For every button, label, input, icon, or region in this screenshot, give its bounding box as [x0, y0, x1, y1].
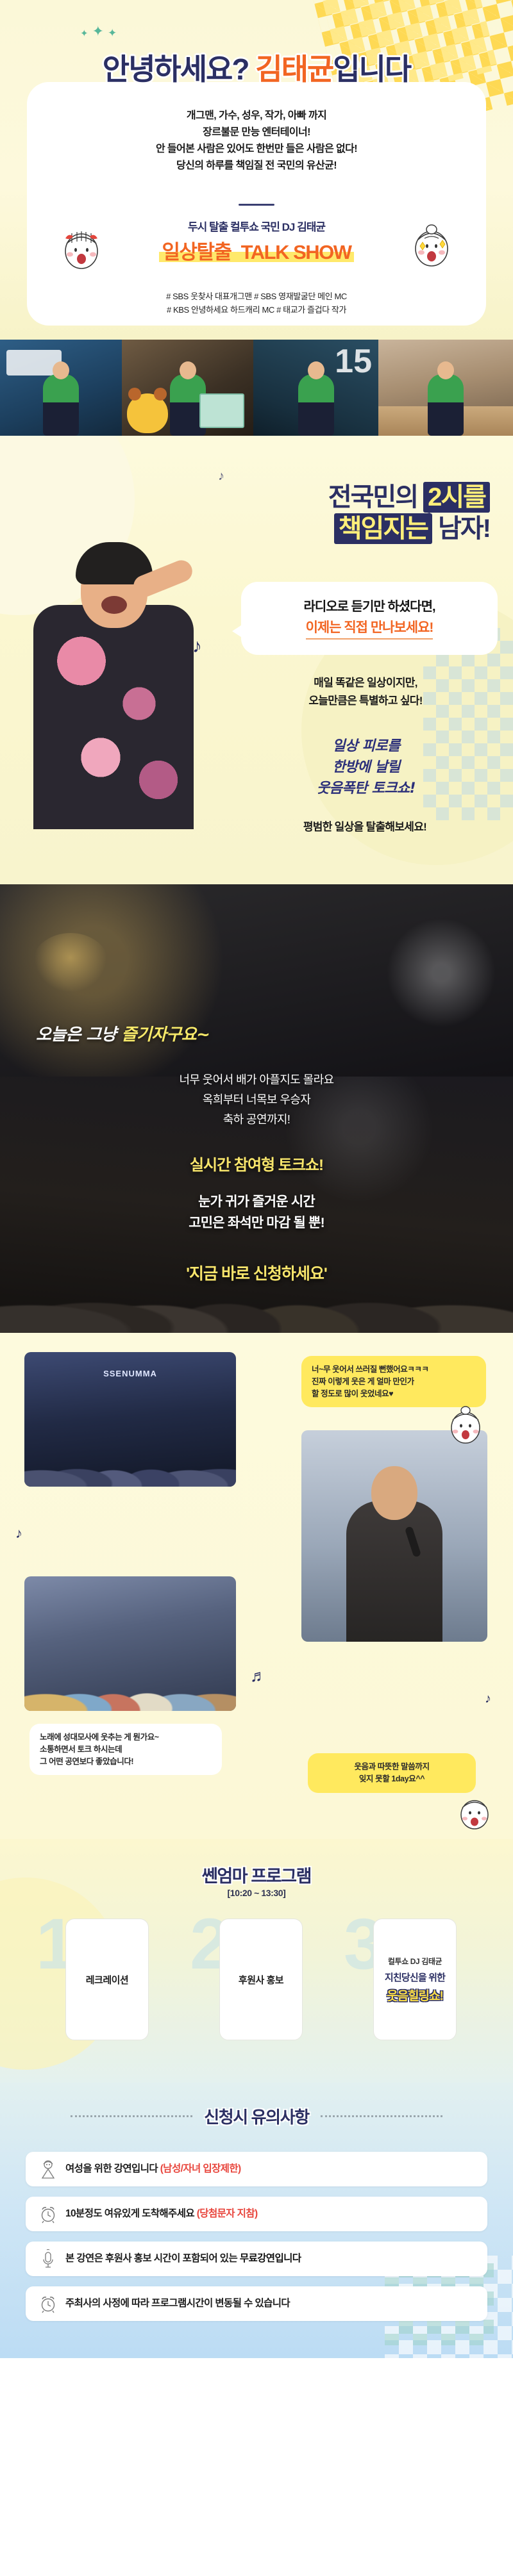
- yellow-section-title: 전국민의 2시를 책임지는 남자!: [328, 482, 490, 545]
- cartoon-face-icon: [62, 226, 101, 270]
- microphone-icon: [40, 2249, 56, 2268]
- music-note-icon: ♪: [485, 1692, 491, 1706]
- review-bubble-line: 할 정도로 많이 웃었네요♥: [312, 1388, 476, 1400]
- notice-text-highlight: 무료강연입니다: [240, 2253, 301, 2264]
- review-bubble-line: 그 어떤 공연보다 좋았습니다!: [40, 1756, 212, 1768]
- reviews-section: SSENUMMA 너~무 웃어서 쓰러질 뻔했어요ㅋㅋㅋ 진짜 이렇게 웃은 게…: [0, 1333, 513, 1839]
- dark-handwriting-yellow: 즐기자구요~: [122, 1025, 210, 1044]
- hero-body-text: 개그맨, 가수, 성우, 작가, 아빠 까지 장르불문 만능 엔터테이너! 안 …: [0, 108, 513, 174]
- program-item-1: 1 레크레이션: [38, 1919, 167, 2047]
- dark-paragraph-line: 너무 웃어서 배가 아플지도 몰라요: [0, 1070, 513, 1090]
- speaker-head: [371, 1466, 417, 1520]
- page-title-suffix: 입니다: [333, 53, 410, 86]
- dark-white-text: 눈가 귀가 즐거운 시간 고민은 좌석만 마감 될 뿐!: [0, 1192, 513, 1234]
- notice-item: 여성을 위한 강연입니다 (남성/자녀 입장제한): [26, 2152, 487, 2186]
- yellow-paragraph: 매일 똑같은 일상이지만, 오늘만큼은 특별하고 싶다!: [244, 674, 487, 709]
- review-bubble-3: 웃음과 따뜻한 말씀까지 잊지 못할 1day요^^: [308, 1753, 476, 1793]
- handwriting-line: 일상 피로를: [248, 736, 485, 757]
- photo-sign-decoration: [199, 393, 244, 428]
- cartoon-face-icon-3: [448, 1405, 484, 1444]
- program-card-label: 레크레이션: [65, 1919, 149, 2040]
- stage-banner-text: SSENUMMA: [103, 1369, 157, 1378]
- hero-section: ✦ ✦ ✦ 안녕하세요? 김태균입니다 개그맨, 가수, 성우, 작가, 아빠 …: [0, 0, 513, 340]
- hero-body-line: 당신의 하루를 책임질 전 국민의 유산균!: [0, 158, 513, 174]
- notice-title-wrap: 신청시 유의사항: [0, 2104, 513, 2128]
- singer-body: [33, 605, 194, 829]
- notice-text-main: 주최사의 사정에 따라 프로그램시간이 변동될 수 있습니다: [65, 2298, 290, 2309]
- music-note-icon: ♪: [218, 469, 224, 484]
- venue-ceiling-photo: [0, 884, 513, 1077]
- program-card-label: 후원사 홍보: [219, 1919, 303, 2040]
- yellow-title-box-2: 책임지는: [334, 513, 432, 544]
- yellow-title-line-1: 전국민의 2시를: [328, 482, 490, 513]
- yellow-title-pre: 전국민의: [328, 483, 423, 511]
- cartoon-face-icon-4: [458, 1793, 491, 1830]
- hashtag-line: # KBS 안녕하세요 하드캐리 MC # 태교가 즐겁다 작가: [0, 303, 513, 317]
- yellow-closing-line: 평범한 일상을 탈출해보세요!: [240, 818, 490, 834]
- divider: [239, 204, 274, 206]
- notice-text-main: 여성을 위한 강연입니다: [65, 2163, 160, 2174]
- dark-handwriting-text: 오늘은 그냥 즐기자구요~: [36, 1021, 210, 1045]
- review-bubble-line: 웃음과 따뜻한 말씀까지: [318, 1761, 466, 1773]
- notice-title: 신청시 유의사항: [204, 2104, 308, 2128]
- review-photo-group: [24, 1576, 236, 1711]
- hero-hashtags: # SBS 웃찾사 대표개그맨 # SBS 영재발굴단 메인 MC # KBS …: [0, 290, 513, 317]
- dark-cta-text: '지금 바로 신청하세요': [0, 1261, 513, 1284]
- yellow-paragraph-line: 오늘만큼은 특별하고 싶다!: [244, 692, 487, 710]
- program-card-bottom-label: 웃음힐링쇼!: [387, 1986, 443, 2004]
- yellow-handwriting-text: 일상 피로를 한방에 날릴 웃음폭탄 토크쇼!: [248, 736, 485, 799]
- photo-thumbnail: [0, 340, 122, 436]
- hero-showtitle-highlight: 일상탈출: [159, 241, 233, 263]
- photo-thumbnail: [378, 340, 513, 436]
- mascot-figure: [127, 393, 168, 433]
- page-title-name: 김태균: [255, 53, 333, 86]
- notice-section: 신청시 유의사항 여성을 위한 강연입니다 (남성/자녀 입장제한): [0, 2083, 513, 2358]
- program-item-2: 2 후원사 홍보: [192, 1919, 321, 2047]
- review-photo-speaker: [301, 1430, 487, 1642]
- music-note-icon: ♪: [15, 1525, 22, 1542]
- program-item-3: 3 컬투쇼 DJ 김태균 지친당신을 위한 웃음힐링쇼!: [346, 1919, 475, 2047]
- review-bubble-line: 진짜 이렇게 웃은 게 얼마 만인가: [312, 1376, 476, 1388]
- photo-person-figure: [428, 374, 464, 436]
- notice-item-text: 본 강연은 후원사 홍보 시간이 포함되어 있는 무료강연입니다: [65, 2253, 301, 2265]
- review-bubble-line: 잊지 못할 1day요^^: [318, 1773, 466, 1785]
- hero-body-line: 개그맨, 가수, 성우, 작가, 아빠 까지: [0, 108, 513, 124]
- singer-photo: [12, 470, 242, 829]
- photo-person-head: [308, 361, 324, 379]
- group-people: [24, 1634, 236, 1711]
- hero-showtitle-rest: TALK SHOW: [234, 241, 354, 263]
- dark-white-line: 고민은 좌석만 마감 될 뿐!: [0, 1213, 513, 1234]
- page-title-greeting: 안녕하세요?: [103, 53, 255, 86]
- notice-item-text: 주최사의 사정에 따라 프로그램시간이 변동될 수 있습니다: [65, 2298, 290, 2310]
- handwriting-line: 웃음폭탄 토크쇼!: [248, 778, 485, 799]
- notice-text-main: 본 강연은 후원사 홍보 시간이 포함되어 있는: [65, 2253, 240, 2264]
- alarm-clock-icon: [40, 2294, 56, 2313]
- yellow-title-box-1: 2시를: [423, 482, 490, 513]
- yellow-title-post: 남자!: [432, 515, 490, 543]
- hero-body-line: 안 들어본 사람은 있어도 한번만 들은 사람은 없다!: [0, 141, 513, 158]
- dark-paragraph-line: 축하 공연까지!: [0, 1110, 513, 1130]
- notice-item-text: 10분정도 여유있게 도착해주세요 (당첨문자 지참): [65, 2208, 258, 2220]
- singer-mouth: [101, 596, 127, 614]
- notice-item-text: 여성을 위한 강연입니다 (남성/자녀 입장제한): [65, 2163, 241, 2176]
- bubble-line-1: 라디오로 듣기만 하셨다면,: [258, 596, 481, 615]
- review-bubble-1: 너~무 웃어서 쓰러질 뻔했어요ㅋㅋㅋ 진짜 이렇게 웃은 게 얼마 만인가 할…: [301, 1356, 486, 1407]
- notice-item: 10분정도 여유있게 도착해주세요 (당첨문자 지참): [26, 2197, 487, 2231]
- photo-thumbnail: [122, 340, 253, 436]
- notice-text-highlight: (당첨문자 지참): [197, 2208, 258, 2219]
- photo-person-figure: [298, 374, 334, 436]
- dark-yellow-headline: 실시간 참여형 토크쇼!: [0, 1152, 513, 1175]
- promo-detail-page: ✦ ✦ ✦ 안녕하세요? 김태균입니다 개그맨, 가수, 성우, 작가, 아빠 …: [0, 0, 513, 2358]
- hashtag-line: # SBS 웃찾사 대표개그맨 # SBS 영재발굴단 메인 MC: [0, 290, 513, 303]
- yellow-highlight-section: ♬ ♪ ♪ 전국민의 2시를 책임지는 남자! 라디오로 듣기만 하셨다면, 이…: [0, 436, 513, 884]
- dark-paragraph-line: 옥희부터 너목보 우승자: [0, 1090, 513, 1110]
- program-card-top-label: 컬투쇼 DJ 김태균: [388, 1956, 442, 1967]
- review-bubble-line: 노래에 성대모사에 웃추는 게 뭔가요~: [40, 1731, 212, 1744]
- page-title: 안녕하세요? 김태균입니다: [0, 46, 513, 88]
- music-note-icon: ♬: [250, 1666, 267, 1686]
- program-card-featured: 컬투쇼 DJ 김태균 지친당신을 위한 웃음힐링쇼!: [373, 1919, 457, 2040]
- handwriting-line: 한방에 날릴: [248, 757, 485, 778]
- dark-white-line: 눈가 귀가 즐거운 시간: [0, 1192, 513, 1213]
- photo-person-head: [180, 361, 196, 379]
- yellow-paragraph-line: 매일 똑같은 일상이지만,: [244, 674, 487, 692]
- photo-person-figure: [43, 374, 79, 436]
- notice-item: 주최사의 사정에 따라 프로그램시간이 변동될 수 있습니다: [26, 2286, 487, 2321]
- yellow-title-line-2: 책임지는 남자!: [328, 513, 490, 545]
- photo-person-head: [437, 361, 454, 379]
- woman-icon: [40, 2159, 56, 2179]
- speech-bubble-tail: [232, 623, 245, 640]
- program-time: [10:20 ~ 13:30]: [0, 1888, 513, 1898]
- photo-thumbnail: 15: [253, 340, 378, 436]
- review-bubble-line: 너~무 웃어서 쓰러질 뻔했어요ㅋㅋㅋ: [312, 1364, 476, 1376]
- notice-item: 본 강연은 후원사 홍보 시간이 포함되어 있는 무료강연입니다: [26, 2242, 487, 2276]
- music-note-icon: ♪: [192, 636, 202, 657]
- notice-text-highlight: (남성/자녀 입장제한): [160, 2163, 241, 2174]
- photo-band-section: 15: [0, 340, 513, 436]
- program-items-row: 1 레크레이션 2 후원사 홍보 3 컬투쇼 DJ 김태균 지친당신을 위한 웃…: [38, 1919, 475, 2047]
- photo-person-head: [53, 361, 69, 379]
- dark-handwriting-white: 오늘은 그냥: [36, 1025, 122, 1044]
- speaker-figure: [346, 1501, 442, 1642]
- dark-paragraph: 너무 웃어서 배가 아플지도 몰라요 옥희부터 너목보 우승자 축하 공연까지!: [0, 1070, 513, 1130]
- dotted-divider-left: [71, 2115, 192, 2117]
- review-bubble-line: 소통하면서 토크 하시는데: [40, 1744, 212, 1756]
- sparkle-icon: ✦: [92, 24, 104, 38]
- audience-crowd: [24, 1416, 236, 1487]
- dark-venue-section: 오늘은 그냥 즐기자구요~ 너무 웃어서 배가 아플지도 몰라요 옥희부터 너목…: [0, 884, 513, 1333]
- review-bubble-2: 노래에 성대모사에 웃추는 게 뭔가요~ 소통하면서 토크 하시는데 그 어떤 …: [29, 1724, 222, 1775]
- sparkle-icon: ✦: [80, 29, 88, 38]
- program-title: 쎈엄마 프로그램: [0, 1862, 513, 1887]
- sparkle-group: ✦ ✦ ✦: [80, 24, 117, 38]
- hero-body-line: 장르불문 만능 엔터테이너!: [0, 124, 513, 141]
- program-section: 쎈엄마 프로그램 [10:20 ~ 13:30] 1 레크레이션 2 후원사 홍…: [0, 1839, 513, 2083]
- review-photo-audience: SSENUMMA: [24, 1352, 236, 1487]
- notice-text-main: 10분정도 여유있게 도착해주세요: [65, 2208, 197, 2219]
- bubble-line-2: 이제는 직접 만나보세요!: [306, 617, 433, 640]
- dotted-divider-right: [321, 2115, 442, 2117]
- cartoon-face-icon-2: [412, 223, 451, 268]
- chandelier-decoration: [32, 933, 109, 995]
- photo-number-overlay: 15: [335, 345, 372, 378]
- speech-bubble: 라디오로 듣기만 하셨다면, 이제는 직접 만나보세요!: [241, 582, 498, 655]
- sparkle-icon: ✦: [108, 28, 117, 38]
- alarm-clock-icon: [40, 2204, 56, 2224]
- notice-list: 여성을 위한 강연입니다 (남성/자녀 입장제한) 10분정도 여유있게 도착해…: [26, 2152, 487, 2321]
- program-card-mid-label: 지친당신을 위한: [385, 1970, 445, 1984]
